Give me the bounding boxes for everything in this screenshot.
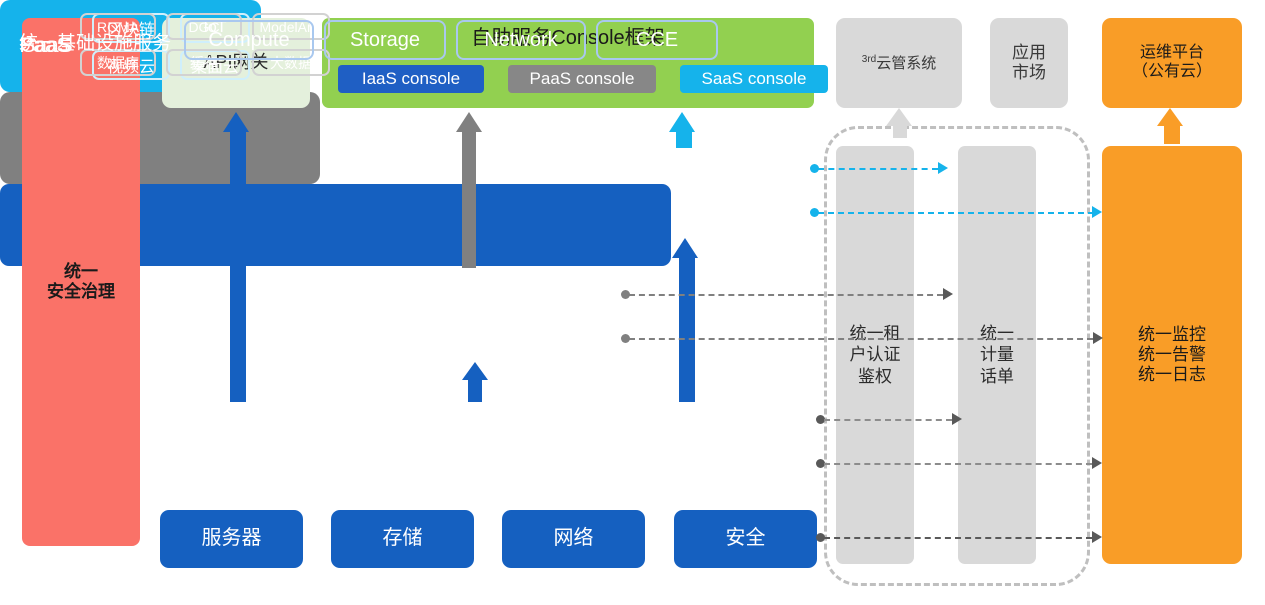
third-party-main-label: 云管系统 (876, 55, 936, 72)
third-party-cloud-management-box: 3rd云管系统 (836, 18, 962, 108)
infra-item-network[interactable]: Network (456, 20, 586, 60)
saas-console-chip[interactable]: SaaS console (680, 65, 828, 93)
third-party-superscript: 3rd (862, 54, 876, 65)
unified-security-governance-panel: 统一 安全治理 (22, 18, 140, 546)
unified-tenant-auth-label: 统一租 户认证 鉴权 (850, 323, 901, 387)
unified-metering-label: 统一 计量 话单 (980, 323, 1014, 387)
iaas-console-chip[interactable]: IaaS console (338, 65, 484, 93)
third-party-cloud-management-label: 3rd云管系统 (862, 54, 936, 73)
unified-tenant-auth-column: 统一租 户认证 鉴权 (836, 146, 914, 564)
unified-infrastructure-label: 统一基础设施服务 (12, 0, 178, 82)
ops-platform-label: 运维平台 （公有云） (1132, 44, 1212, 82)
unified-monitoring-column: 统一监控 统一告警 统一日志 (1102, 146, 1242, 564)
hardware-item-network[interactable]: 网络 (502, 510, 645, 568)
infra-item-storage[interactable]: Storage (324, 20, 446, 60)
ops-platform-public-cloud-box: 运维平台 （公有云） (1102, 18, 1242, 108)
paas-console-chip[interactable]: PaaS console (508, 65, 656, 93)
unified-metering-column: 统一 计量 话单 (958, 146, 1036, 564)
unified-monitoring-label: 统一监控 统一告警 统一日志 (1138, 325, 1206, 385)
hardware-item-storage[interactable]: 存储 (331, 510, 474, 568)
infra-item-compute[interactable]: Compute (184, 20, 314, 60)
hardware-item-server[interactable]: 服务器 (160, 510, 303, 568)
app-market-label: 应用 市场 (1012, 43, 1046, 83)
infra-item-cce[interactable]: CCE (596, 20, 718, 60)
app-market-box: 应用 市场 (990, 18, 1068, 108)
hardware-item-security[interactable]: 安全 (674, 510, 817, 568)
unified-security-governance-label: 统一 安全治理 (47, 262, 115, 302)
architecture-diagram: 统一 安全治理 API网关 自助服务Console框架 IaaS console… (0, 0, 1265, 605)
